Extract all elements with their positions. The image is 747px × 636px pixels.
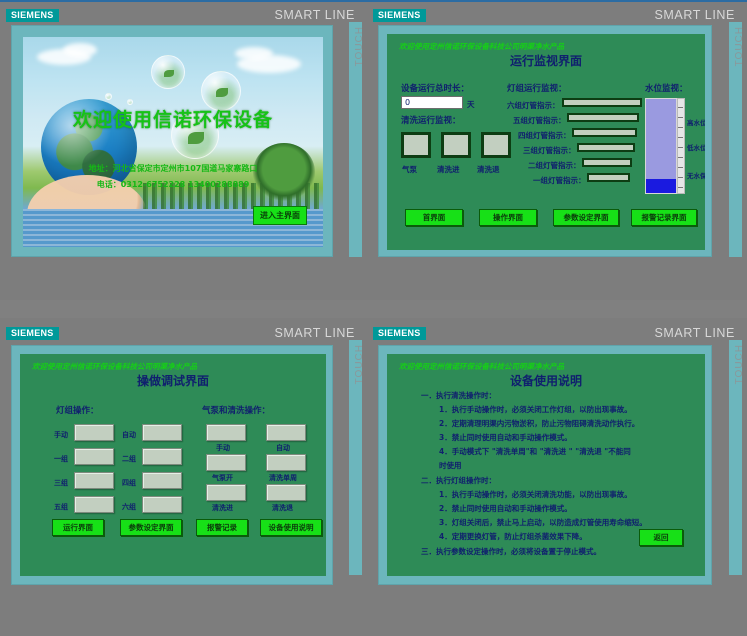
screen-title: 设备使用说明 — [387, 372, 705, 389]
instruction-heading-3: 三．执行参数设定操作时，必须将设备置于停止模式。 — [421, 546, 601, 557]
hmi-panel-operate: SIEMENS SMART LINE TOUCH 欢迎使用定州信诺环保设备科技公… — [0, 318, 367, 636]
pump-label-manual: 手动 — [216, 443, 230, 453]
lamp-bar-4 — [572, 128, 637, 137]
lamp-group-section-label: 灯组运行监视： — [507, 82, 567, 94]
touch-label: TOUCH — [734, 26, 745, 66]
hmi-screen-operate: 欢迎使用定州信诺环保设备科技公司明渠净水产品 操做调试界面 灯组操作： 手动 自… — [20, 354, 326, 576]
return-button[interactable]: 返回 — [639, 529, 683, 546]
indicator-label-wash-forward: 清洗进 — [437, 164, 460, 175]
runtime-value-field[interactable]: 0 — [401, 96, 463, 109]
instruction-item: 3．禁止同时使用自动和手动操作模式。 — [439, 432, 572, 443]
water-mark-high: 高水位运行线 — [687, 117, 705, 127]
smart-line-label: SMART LINE — [274, 326, 355, 340]
lamp-label-group3: 三组 — [54, 478, 68, 488]
indicator-label-wash-reverse: 清洗退 — [477, 164, 500, 175]
screen-bezel: 欢迎使用定州信诺环保设备科技公司明渠净水产品 操做调试界面 灯组操作： 手动 自… — [11, 345, 333, 585]
nav-manual-screen-button[interactable]: 设备使用说明 — [260, 519, 322, 536]
welcome-title: 欢迎使用信诺环保设备 — [23, 105, 323, 132]
siemens-logo: SIEMENS — [373, 327, 426, 340]
pump-button-pump-on[interactable] — [206, 454, 246, 471]
cloud-icon — [63, 43, 97, 57]
water-level-section-label: 水位监视： — [645, 82, 688, 94]
welcome-artwork: 欢迎使用信诺环保设备 地址：河北省保定市定州市107国道马家寨路口 电话：031… — [23, 37, 323, 247]
indicator-wash-reverse — [481, 132, 511, 158]
siemens-logo: SIEMENS — [373, 9, 426, 22]
lamp-bar-2 — [582, 158, 632, 167]
smart-line-label: SMART LINE — [274, 8, 355, 22]
pump-label-auto: 自动 — [276, 443, 290, 453]
sprout-icon — [164, 70, 174, 77]
screen-subtitle: 欢迎使用定州信诺环保设备科技公司明渠净水产品 — [32, 361, 197, 372]
lamp-row-label-6: 六组灯管指示： — [507, 100, 560, 111]
instruction-item: 2．禁止同时使用自动和手动操作模式。 — [439, 503, 572, 514]
siemens-logo: SIEMENS — [6, 327, 59, 340]
instruction-item: 4．定期更换灯管，防止灯组杀菌效果下降。 — [439, 531, 587, 542]
hmi-panel-instructions: SIEMENS SMART LINE TOUCH 欢迎使用定州信诺环保设备科技公… — [367, 318, 747, 636]
pump-label-pump-on: 气泵开 — [212, 473, 233, 483]
screen-title: 操做调试界面 — [20, 372, 326, 389]
siemens-logo: SIEMENS — [6, 9, 59, 22]
screen-subtitle: 欢迎使用定州信诺环保设备科技公司明渠净水产品 — [399, 41, 564, 52]
lamp-label-group2: 二组 — [122, 454, 136, 464]
nav-home-screen-button[interactable]: 首界面 — [405, 209, 463, 226]
nav-alarm-record-button[interactable]: 报警记录 — [196, 519, 248, 536]
lamp-bar-1 — [587, 173, 630, 182]
water-tank-scale — [677, 98, 685, 194]
hmi-panel-welcome: SIEMENS SMART LINE TOUCH — [0, 0, 367, 300]
touch-label: TOUCH — [734, 344, 745, 384]
pump-button-manual[interactable] — [206, 424, 246, 441]
hmi-screen-welcome: 欢迎使用信诺环保设备 地址：河北省保定市定州市107国道马家寨路口 电话：031… — [23, 37, 323, 247]
pump-label-wash-forward: 清洗进 — [212, 503, 233, 513]
lamp-bar-3 — [577, 143, 635, 152]
screen-title: 运行监视界面 — [387, 52, 705, 69]
pump-button-wash-reverse[interactable] — [266, 484, 306, 501]
hmi-panel-monitoring: SIEMENS SMART LINE TOUCH 欢迎使用定州信诺环保设备科技公… — [367, 0, 747, 300]
lamp-row-label-4: 四组灯管指示： — [518, 130, 571, 141]
lamp-row-label-3: 三组灯管指示： — [523, 145, 576, 156]
instruction-item: 2．定期清理明渠内污物淤积，防止污物阻碍清洗动作执行。 — [439, 418, 639, 429]
screenshot-root: SIEMENS SMART LINE TOUCH — [0, 0, 747, 636]
pump-label-wash-reverse: 清洗退 — [272, 503, 293, 513]
instruction-heading-2: 二．执行灯组操作时： — [421, 475, 496, 486]
top-accent-bar — [0, 0, 367, 2]
instruction-item: 1．执行手动操作时，必须关闭清洗功能，以防出现事故。 — [439, 489, 632, 500]
pump-label-wash-cycle: 清洗单周 — [269, 473, 297, 483]
nav-parameter-screen-button[interactable]: 参数设定界面 — [553, 209, 619, 226]
smart-line-label: SMART LINE — [654, 8, 735, 22]
enter-main-screen-button[interactable]: 进入主界面 — [253, 206, 307, 225]
lamp-label-group6: 六组 — [122, 502, 136, 512]
indicator-wash-forward — [441, 132, 471, 158]
instruction-item: 1．执行手动操作时，必须关闭工作灯组，以防出现事故。 — [439, 404, 632, 415]
lamp-row-label-2: 二组灯管指示： — [528, 160, 581, 171]
hmi-screen-instructions: 欢迎使用定州信诺环保设备科技公司明渠净水产品 设备使用说明 一．执行清洗操作时：… — [387, 354, 705, 576]
smart-line-label: SMART LINE — [654, 326, 735, 340]
screen-bezel: 欢迎使用定州信诺环保设备科技公司明渠净水产品 设备使用说明 一．执行清洗操作时：… — [378, 345, 712, 585]
lamp-bar-5 — [567, 113, 639, 122]
sprout-icon — [188, 132, 204, 144]
hmi-screen-monitoring: 欢迎使用定州信诺环保设备科技公司明渠净水产品 运行监视界面 设备运行总时长： 0… — [387, 34, 705, 250]
pump-button-wash-cycle[interactable] — [266, 454, 306, 471]
lamp-label-group5: 五组 — [54, 502, 68, 512]
lamp-row-label-1: 一组灯管指示： — [533, 175, 586, 186]
lamp-button-group2[interactable] — [142, 448, 182, 465]
lamp-button-group5[interactable] — [74, 496, 114, 513]
pump-button-wash-forward[interactable] — [206, 484, 246, 501]
screen-subtitle: 欢迎使用定州信诺环保设备科技公司明渠净水产品 — [399, 361, 564, 372]
lamp-label-manual: 手动 — [54, 430, 68, 440]
instruction-item: 3．灯组关闭后，禁止马上启动，以防造成灯管使用寿命缩短。 — [439, 517, 647, 528]
nav-operate-screen-button[interactable]: 操作界面 — [479, 209, 537, 226]
indicator-label-air-pump: 气泵 — [402, 164, 417, 175]
instruction-heading-1: 一．执行清洗操作时： — [421, 390, 496, 401]
lamp-button-manual[interactable] — [74, 424, 114, 441]
instruction-item: 4．手动模式下 "清洗单周"和 "清洗进 " "清洗退 "不能同 — [439, 446, 631, 457]
indicator-air-pump — [401, 132, 431, 158]
lamp-label-auto: 自动 — [122, 430, 136, 440]
instruction-item: 时使用 — [439, 460, 462, 471]
bubble-icon — [151, 55, 185, 89]
runtime-label: 设备运行总时长： — [401, 82, 469, 94]
water-mark-low: 低水位运行线 — [687, 142, 705, 152]
lamp-button-auto[interactable] — [142, 424, 182, 441]
touch-label: TOUCH — [354, 26, 365, 66]
sprout-icon — [216, 88, 228, 97]
cloud-icon — [235, 47, 273, 60]
company-phone: 电话：0312-6752228 13400288889 — [23, 179, 323, 190]
screen-bezel: 欢迎使用信诺环保设备 地址：河北省保定市定州市107国道马家寨路口 电话：031… — [11, 25, 333, 257]
screen-bezel: 欢迎使用定州信诺环保设备科技公司明渠净水产品 运行监视界面 设备运行总时长： 0… — [378, 25, 712, 257]
top-accent-bar — [367, 0, 747, 2]
runtime-unit-label: 天 — [467, 99, 475, 110]
lamp-label-group1: 一组 — [54, 454, 68, 464]
pump-button-auto[interactable] — [266, 424, 306, 441]
company-address: 地址：河北省保定市定州市107国道马家寨路口 — [23, 163, 323, 174]
bubble-icon — [105, 93, 112, 100]
nav-run-screen-button[interactable]: 运行界面 — [52, 519, 104, 536]
lamp-row-label-5: 五组灯管指示： — [513, 115, 566, 126]
lamp-button-group4[interactable] — [142, 472, 182, 489]
touch-label: TOUCH — [354, 344, 365, 384]
nav-parameter-screen-button[interactable]: 参数设定界面 — [120, 519, 182, 536]
nav-alarm-record-screen-button[interactable]: 报警记录界面 — [631, 209, 697, 226]
lamp-operate-section-label: 灯组操作： — [56, 404, 99, 416]
water-tank-fill — [646, 179, 676, 193]
lamp-button-group3[interactable] — [74, 472, 114, 489]
water-tank — [645, 98, 677, 194]
pump-operate-section-label: 气泵和清洗操作： — [202, 404, 270, 416]
lamp-bar-6 — [562, 98, 642, 107]
lamp-button-group1[interactable] — [74, 448, 114, 465]
wash-monitor-label: 清洗运行监视： — [401, 114, 461, 126]
lamp-button-group6[interactable] — [142, 496, 182, 513]
lamp-label-group4: 四组 — [122, 478, 136, 488]
water-mark-dry: 无水保护线 — [687, 170, 705, 180]
